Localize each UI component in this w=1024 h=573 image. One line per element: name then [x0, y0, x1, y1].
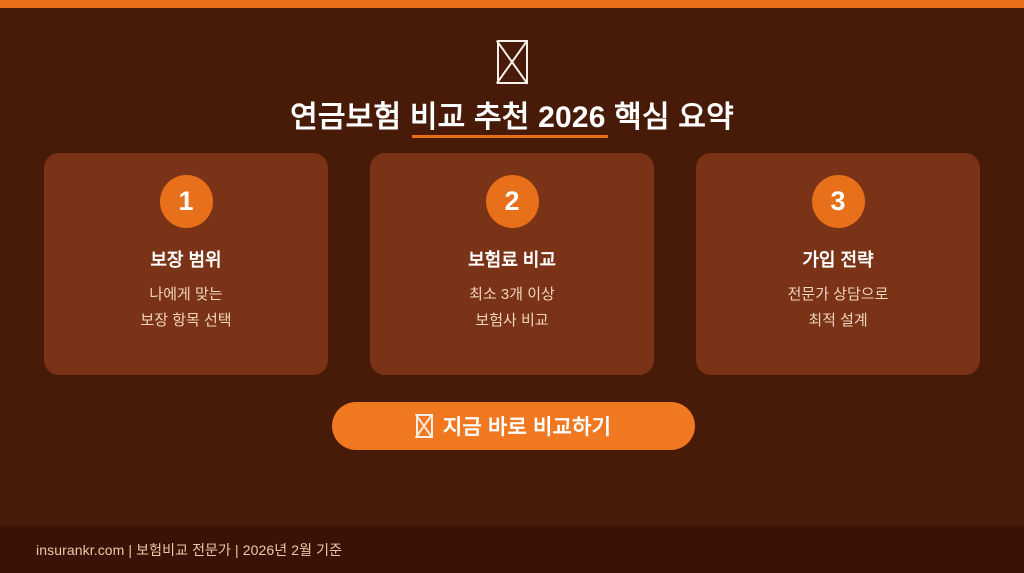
card-body-line: 최소 3개 이상 [370, 282, 654, 308]
card-body-line: 최적 설계 [696, 308, 980, 334]
card-body-line: 보장 항목 선택 [44, 308, 328, 334]
card-title: 가입 전략 [696, 248, 980, 272]
missing-glyph-box-icon [416, 414, 433, 438]
card-item[interactable]: 2 보험료 비교 최소 3개 이상 보험사 비교 [370, 153, 654, 375]
infographic-stage: 연금보험 비교 추천 2026 핵심 요약 1 보장 범위 나에게 맞는 보장 … [0, 8, 1024, 526]
missing-glyph-box-icon [497, 40, 528, 84]
card-item[interactable]: 3 가입 전략 전문가 상담으로 최적 설계 [696, 153, 980, 375]
card-title: 보장 범위 [44, 248, 328, 272]
title-underline [412, 135, 608, 138]
card-item[interactable]: 1 보장 범위 나에게 맞는 보장 항목 선택 [44, 153, 328, 375]
compare-now-button[interactable]: 지금 바로 비교하기 [332, 402, 695, 450]
page-title: 연금보험 비교 추천 2026 핵심 요약 [0, 92, 1024, 136]
card-number-badge: 1 [160, 175, 213, 228]
compare-now-button-label: 지금 바로 비교하기 [443, 411, 611, 441]
card-body: 최소 3개 이상 보험사 비교 [370, 282, 654, 334]
header-emoji-icon [0, 8, 1024, 86]
card-body-line: 전문가 상담으로 [696, 282, 980, 308]
card-body: 전문가 상담으로 최적 설계 [696, 282, 980, 334]
footer-bar: insurankr.com | 보험비교 전문가 | 2026년 2월 기준 [0, 526, 1024, 573]
top-accent-bar [0, 0, 1024, 8]
card-number-badge: 3 [812, 175, 865, 228]
card-body-line: 보험사 비교 [370, 308, 654, 334]
footer-text: insurankr.com | 보험비교 전문가 | 2026년 2월 기준 [36, 540, 342, 560]
header [0, 8, 1024, 86]
card-title: 보험료 비교 [370, 248, 654, 272]
card-list: 1 보장 범위 나에게 맞는 보장 항목 선택 2 보험료 비교 최소 3개 이… [44, 153, 980, 375]
card-number-badge: 2 [486, 175, 539, 228]
card-body: 나에게 맞는 보장 항목 선택 [44, 282, 328, 334]
card-body-line: 나에게 맞는 [44, 282, 328, 308]
